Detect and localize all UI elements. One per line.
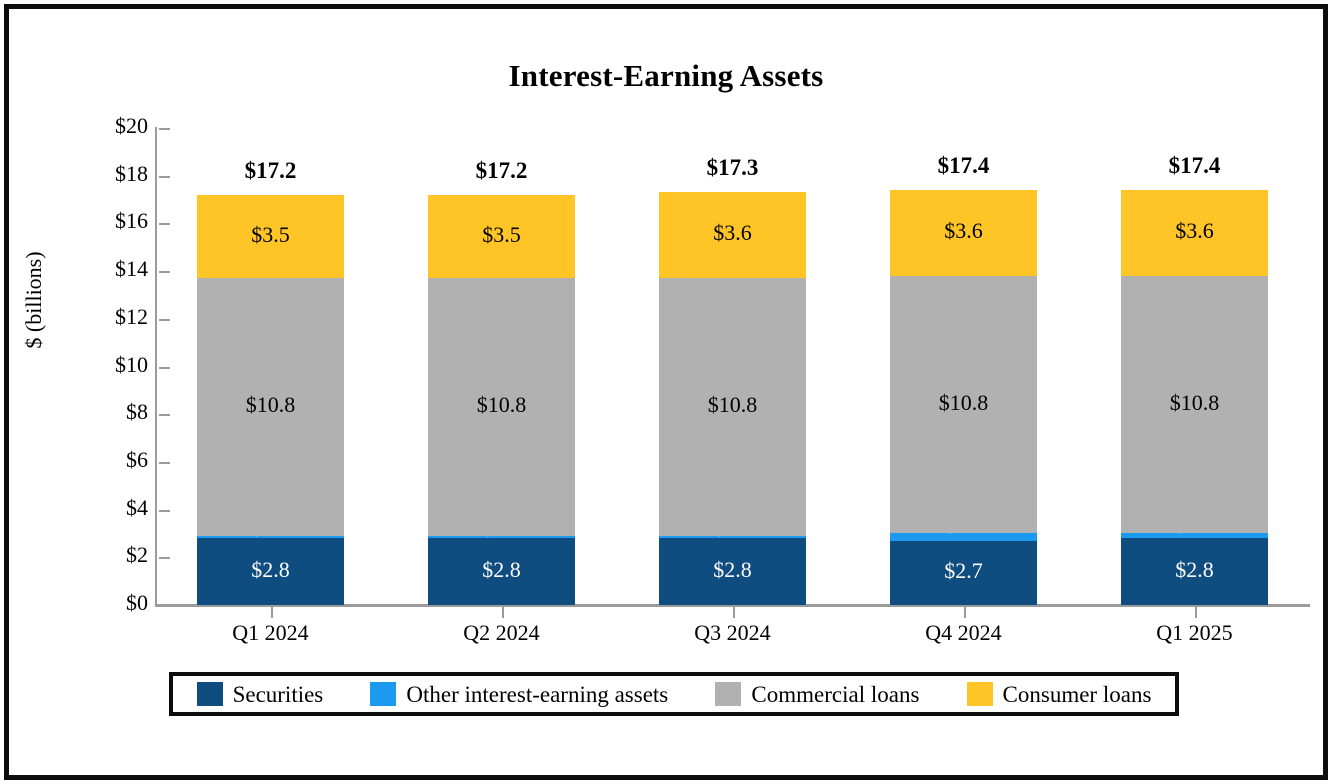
y-axis-tick-label: $0 bbox=[58, 590, 148, 616]
legend-item-label: Other interest-earning assets bbox=[406, 683, 668, 706]
chart-legend: SecuritiesOther interest-earning assetsC… bbox=[169, 672, 1179, 716]
x-axis-tick-mark bbox=[964, 607, 966, 618]
bar-stack[interactable]: $2.8$0.1$10.8$3.5$17.2 bbox=[428, 128, 575, 605]
bar-segment[interactable] bbox=[659, 536, 806, 538]
bar-segment[interactable] bbox=[1121, 538, 1268, 605]
legend-color-swatch bbox=[967, 682, 993, 706]
bar-segment[interactable] bbox=[890, 541, 1037, 605]
x-axis-category-label: Q1 2025 bbox=[1079, 620, 1310, 646]
x-axis-tick-mark bbox=[502, 607, 504, 618]
bar-segment[interactable] bbox=[659, 192, 806, 278]
bar-total-label: $17.3 bbox=[659, 155, 806, 181]
y-axis-tick-label: $10 bbox=[58, 352, 148, 378]
y-axis-tick-label: $2 bbox=[58, 542, 148, 568]
bar-total-label: $17.4 bbox=[890, 153, 1037, 179]
bar-total-label: $17.2 bbox=[428, 158, 575, 184]
bar-segment[interactable] bbox=[428, 195, 575, 278]
bar-segment[interactable] bbox=[890, 190, 1037, 276]
legend-item[interactable]: Commercial loans bbox=[711, 682, 923, 706]
legend-item-label: Securities bbox=[233, 683, 324, 706]
x-axis-tick-mark bbox=[733, 607, 735, 618]
legend-color-swatch bbox=[715, 682, 741, 706]
bar-segment[interactable] bbox=[428, 278, 575, 536]
y-axis-tick-label: $4 bbox=[58, 495, 148, 521]
y-axis-tick-label: $16 bbox=[58, 208, 148, 234]
legend-color-swatch bbox=[197, 682, 223, 706]
bar-stack[interactable]: $2.7$0.3$10.8$3.6$17.4 bbox=[890, 128, 1037, 605]
bar-stack[interactable]: $2.8$0.1$10.8$3.5$17.2 bbox=[197, 128, 344, 605]
bar-segment[interactable] bbox=[1121, 190, 1268, 276]
y-axis-tick-label: $12 bbox=[58, 304, 148, 330]
legend-item[interactable]: Securities bbox=[193, 682, 328, 706]
bar-segment[interactable] bbox=[890, 276, 1037, 534]
bar-segment[interactable] bbox=[890, 533, 1037, 540]
x-axis-category-label: Q3 2024 bbox=[617, 620, 848, 646]
bar-total-label: $17.4 bbox=[1121, 153, 1268, 179]
plot-area: $2.8$0.1$10.8$3.5$17.2$2.8$0.1$10.8$3.5$… bbox=[155, 128, 1310, 605]
x-axis-tick-mark bbox=[1195, 607, 1197, 618]
bar-segment[interactable] bbox=[197, 278, 344, 536]
bar-segment[interactable] bbox=[659, 538, 806, 605]
y-axis-tick-mark bbox=[159, 605, 170, 607]
bar-segment[interactable] bbox=[428, 536, 575, 538]
bar-stack[interactable]: $2.8$0.1$10.8$3.6$17.3 bbox=[659, 128, 806, 605]
bar-segment[interactable] bbox=[1121, 276, 1268, 534]
x-axis-category-label: Q2 2024 bbox=[386, 620, 617, 646]
legend-item[interactable]: Consumer loans bbox=[963, 682, 1156, 706]
x-axis-category-label: Q1 2024 bbox=[155, 620, 386, 646]
x-axis-tick-mark bbox=[271, 607, 273, 618]
bar-segment[interactable] bbox=[197, 195, 344, 278]
y-axis-tick-label: $14 bbox=[58, 256, 148, 282]
legend-color-swatch bbox=[370, 682, 396, 706]
y-axis-tick-label: $8 bbox=[58, 399, 148, 425]
y-axis-tick-label: $20 bbox=[58, 113, 148, 139]
y-axis-tick-label: $18 bbox=[58, 161, 148, 187]
bar-segment[interactable] bbox=[1121, 533, 1268, 538]
chart-page: Interest-Earning Assets $ (billions) $0$… bbox=[0, 0, 1332, 784]
bar-segment[interactable] bbox=[197, 538, 344, 605]
legend-item[interactable]: Other interest-earning assets bbox=[366, 682, 672, 706]
legend-item-label: Commercial loans bbox=[751, 683, 919, 706]
bar-segment[interactable] bbox=[197, 536, 344, 538]
bar-stack[interactable]: $2.8$0.2$10.8$3.6$17.4 bbox=[1121, 128, 1268, 605]
bar-total-label: $17.2 bbox=[197, 158, 344, 184]
page-title: Interest-Earning Assets bbox=[0, 58, 1332, 94]
y-axis-tick-label: $6 bbox=[58, 447, 148, 473]
x-axis-category-label: Q4 2024 bbox=[848, 620, 1079, 646]
y-axis-title: $ (billions) bbox=[21, 200, 47, 400]
legend-item-label: Consumer loans bbox=[1003, 683, 1152, 706]
bar-segment[interactable] bbox=[428, 538, 575, 605]
bar-segment[interactable] bbox=[659, 278, 806, 536]
